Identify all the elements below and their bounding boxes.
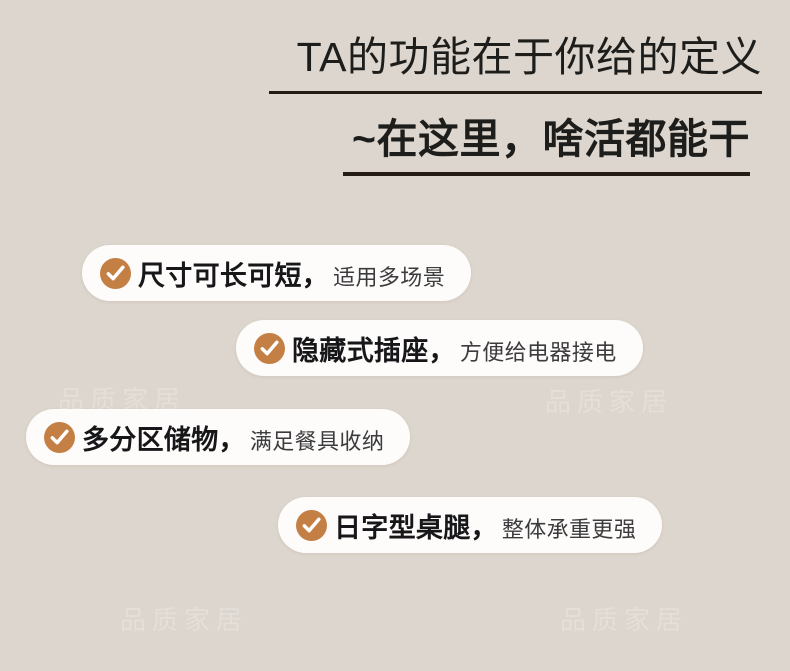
feature-pill-desc: 适用多场景: [333, 260, 445, 292]
feature-pill: 多分区储物， 满足餐具收纳: [26, 409, 410, 465]
check-circle-icon: [296, 510, 327, 541]
feature-list: 尺寸可长可短， 适用多场景 隐藏式插座， 方便给电器接电 多分区储物， 满足餐具…: [0, 0, 790, 671]
feature-pill-text: 多分区储物， 满足餐具收纳: [82, 418, 384, 457]
feature-pill: 隐藏式插座， 方便给电器接电: [236, 320, 643, 376]
feature-pill-title: 隐藏式插座，: [292, 329, 456, 368]
feature-pill: 尺寸可长可短， 适用多场景: [82, 245, 471, 301]
product-feature-banner: 品质家居 品质家居 品质家居 品质家居 TA的功能在于你给的定义 ~在这里，啥活…: [0, 0, 790, 671]
feature-pill-text: 隐藏式插座， 方便给电器接电: [292, 329, 617, 368]
check-circle-icon: [100, 258, 131, 289]
feature-pill-desc: 满足餐具收纳: [250, 424, 384, 456]
feature-pill: 日字型桌腿， 整体承重更强: [278, 497, 662, 553]
feature-pill-text: 日字型桌腿， 整体承重更强: [334, 506, 636, 545]
check-circle-icon: [254, 333, 285, 364]
feature-pill-title: 日字型桌腿，: [334, 506, 498, 545]
check-circle-icon: [44, 422, 75, 453]
feature-pill-text: 尺寸可长可短， 适用多场景: [138, 254, 445, 293]
feature-pill-desc: 方便给电器接电: [460, 335, 617, 367]
feature-pill-title: 多分区储物，: [82, 418, 246, 457]
feature-pill-desc: 整体承重更强: [502, 512, 636, 544]
feature-pill-title: 尺寸可长可短，: [138, 254, 329, 293]
